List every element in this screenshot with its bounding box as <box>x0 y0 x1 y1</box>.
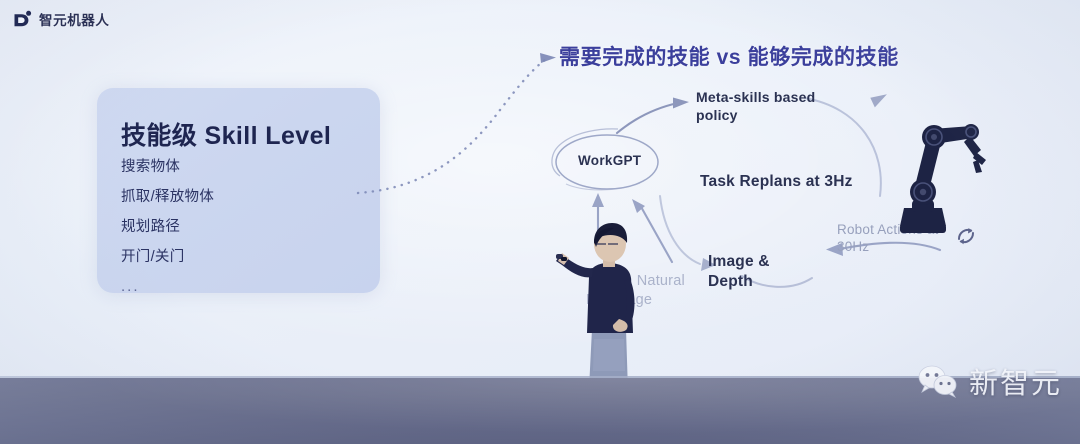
dotted-curved-arrow-icon <box>358 53 556 193</box>
aglibot-d-mark-icon <box>13 10 32 29</box>
label-task-replans: Task Replans at 3Hz <box>700 172 853 192</box>
wechat-icon <box>916 364 960 398</box>
label-image-depth: Image & Depth <box>708 252 798 292</box>
watermark: 新智元 <box>916 360 1062 402</box>
label-meta-skills: Meta-skills based policy <box>696 89 826 125</box>
list-item: 搜索物体 <box>121 155 214 176</box>
watermark-text: 新智元 <box>969 360 1062 402</box>
slide-headline: 需要完成的技能 vs 能够完成的技能 <box>559 41 899 71</box>
arrow-to-meta-skills <box>617 98 689 134</box>
list-item: 规划路径 <box>121 215 214 236</box>
brand-name: 智元机器人 <box>39 9 110 29</box>
list-item: 开门/关门 <box>121 245 214 266</box>
workgpt-node-label: WorkGPT <box>578 153 641 168</box>
robot-arm-icon <box>878 104 990 242</box>
skill-card-list: 搜索物体 抓取/释放物体 规划路径 开门/关门 ... <box>121 155 214 295</box>
list-item-ellipsis: ... <box>121 278 214 295</box>
brand-logo: 智元机器人 <box>13 9 110 29</box>
skill-level-card: 技能级 Skill Level 搜索物体 抓取/释放物体 规划路径 开门/关门 … <box>97 88 380 293</box>
list-item: 抓取/释放物体 <box>121 185 214 206</box>
screenshot-stage: 技能级 Skill Level 搜索物体 抓取/释放物体 规划路径 开门/关门 … <box>0 0 1080 444</box>
skill-card-title: 技能级 Skill Level <box>121 116 331 152</box>
